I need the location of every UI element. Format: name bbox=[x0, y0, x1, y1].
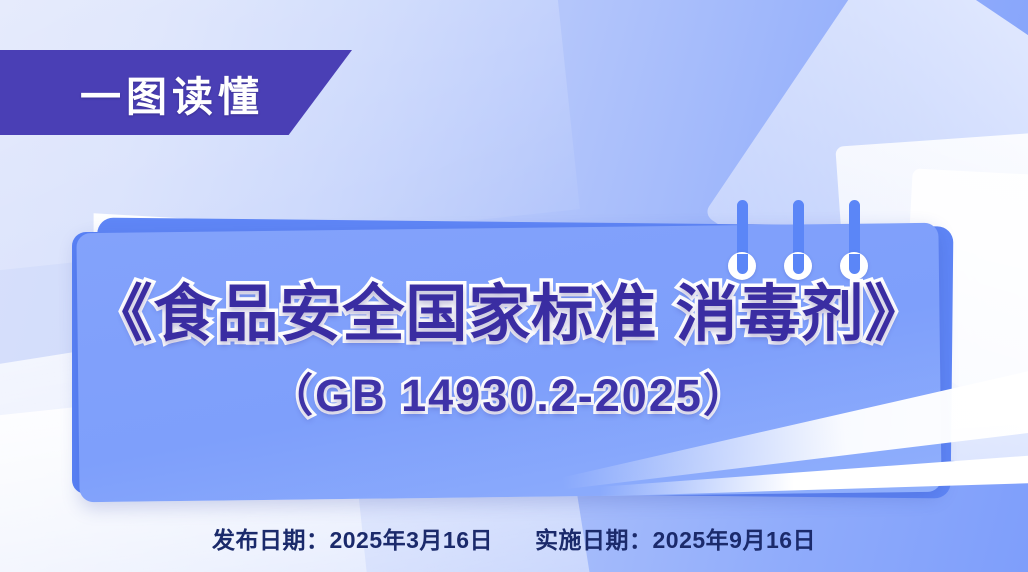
standard-code: （GB 14930.2-2025） bbox=[78, 359, 940, 424]
effective-date: 实施日期：2025年9月16日 bbox=[535, 521, 816, 555]
footer-dates: 发布日期：2025年3月16日 实施日期：2025年9月16日 bbox=[0, 521, 1028, 555]
infographic-poster: 一图读懂 《食品安全国家标准 消毒剂》 （GB 14930.2-2025） bbox=[0, 0, 1028, 572]
binding-ring-icon bbox=[840, 200, 868, 290]
headline-block: 《食品安全国家标准 消毒剂》 （GB 14930.2-2025） bbox=[78, 280, 940, 424]
page-title: 《食品安全国家标准 消毒剂》 bbox=[78, 280, 940, 349]
binding-ring-icon bbox=[784, 200, 812, 290]
binding-rings bbox=[728, 200, 868, 290]
ring-bar-lower bbox=[793, 254, 804, 274]
binding-ring-icon bbox=[728, 200, 756, 290]
ring-bar-lower bbox=[737, 254, 748, 274]
ring-bar-lower bbox=[849, 254, 860, 274]
publish-date: 发布日期：2025年3月16日 bbox=[212, 521, 493, 555]
